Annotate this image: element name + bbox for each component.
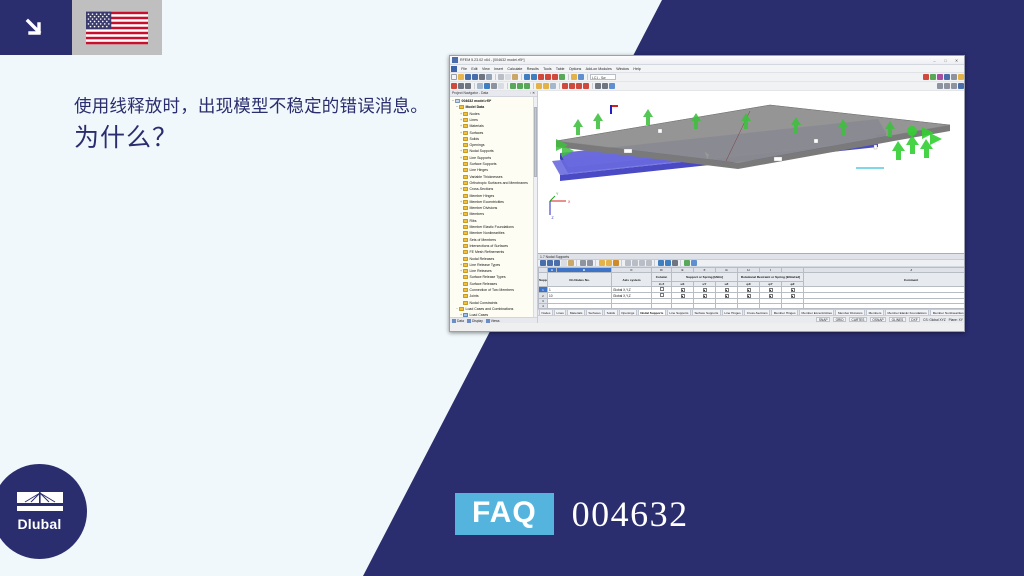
tree-node-label: Nodal Supports: [470, 149, 494, 153]
table-paste-icon[interactable]: [568, 260, 574, 266]
rotate-icon[interactable]: [559, 74, 565, 80]
faq-footer: FAQ 004632: [455, 493, 689, 535]
toolbar-separator: [576, 260, 577, 266]
tree-node-label: Connection of Two Members: [470, 288, 515, 292]
folder-icon: [463, 124, 468, 128]
menu-item-view[interactable]: View: [480, 67, 492, 71]
toolbar-separator: [521, 74, 522, 80]
node-icon[interactable]: [451, 83, 457, 89]
table-delete-icon[interactable]: [554, 260, 560, 266]
new-icon[interactable]: [451, 74, 457, 80]
checkbox-icon[interactable]: [681, 288, 685, 292]
tree-node-label: Variable Thicknesses: [470, 175, 503, 179]
table-print-icon[interactable]: [672, 260, 678, 266]
faq-badge: FAQ: [455, 493, 554, 535]
save-all-icon[interactable]: [472, 74, 478, 80]
folder-icon: [463, 137, 468, 141]
tree-node[interactable]: +Load Cases: [451, 312, 537, 317]
results-icon[interactable]: [937, 74, 943, 80]
table-prev-icon[interactable]: [632, 260, 638, 266]
table-settings-icon[interactable]: [684, 260, 690, 266]
toolbar-separator: [559, 83, 560, 89]
navigator-scrollbar[interactable]: [533, 97, 537, 317]
mesh-icon[interactable]: [944, 74, 950, 80]
menu-item-help[interactable]: Help: [631, 67, 643, 71]
header-axis-system: Axis system: [612, 273, 652, 287]
checkbox-icon[interactable]: [769, 294, 773, 298]
dimension-icon[interactable]: [595, 83, 601, 89]
header-on-nodes-no: On Nodes No.: [548, 273, 612, 287]
toolbar-separator: [621, 260, 622, 266]
table-edit-icon[interactable]: [547, 260, 553, 266]
application-menu-icon[interactable]: [451, 66, 457, 72]
folder-icon: [463, 200, 468, 204]
arc-icon[interactable]: [465, 83, 471, 89]
settings-gear-icon[interactable]: [958, 83, 964, 89]
tree-node-label: Model Data: [466, 105, 485, 109]
status-bar: SNAP GRID CARTES OSNAP GLINES DXF CS: Gl…: [538, 315, 965, 323]
menu-bar: File Edit View Insert Calculate Results …: [450, 65, 964, 73]
menu-item-file[interactable]: File: [459, 67, 469, 71]
checkbox-icon[interactable]: [681, 294, 685, 298]
tree-node-label: Joints: [470, 294, 479, 298]
copy-icon[interactable]: [505, 74, 511, 80]
tree-node-label: Load Cases and Combinations: [466, 307, 514, 311]
navigator-tab-views[interactable]: Views: [486, 319, 500, 323]
view-xz-icon[interactable]: [944, 83, 950, 89]
toolbar-separator: [568, 74, 569, 80]
folder-icon: [463, 194, 468, 198]
table-copy-icon[interactable]: [561, 260, 567, 266]
folder-icon: [463, 294, 468, 298]
svg-text:Y: Y: [556, 192, 559, 196]
toolbar-separator: [474, 83, 475, 89]
snap-icon[interactable]: [958, 74, 964, 80]
dlubal-logo: Dlubal: [0, 464, 87, 559]
coordinate-axes-icon: X Y Z: [550, 192, 571, 220]
headline-line-2: 为什么？: [74, 122, 434, 156]
display-icon: [467, 319, 471, 323]
toolbar-separator: [587, 74, 588, 80]
tree-node-label: Member Elastic Foundations: [470, 225, 514, 229]
folder-icon: [463, 212, 468, 216]
section-icon[interactable]: [609, 83, 615, 89]
arrow-down-right-block: [0, 0, 72, 55]
load-nodal-icon[interactable]: [562, 83, 568, 89]
table-first-icon[interactable]: [625, 260, 631, 266]
navigator-tree[interactable]: −004632 model.rf5*−Model Data+Nodes+Line…: [450, 97, 537, 317]
table-help-icon[interactable]: [691, 260, 697, 266]
line-support-icon[interactable]: [517, 83, 523, 89]
model-viewport[interactable]: X Y Z: [538, 91, 965, 253]
project-navigator: Project Navigator - Data ▫ ✕ −004632 mod…: [450, 91, 538, 323]
table-toolbar: [538, 260, 965, 267]
calculate-icon[interactable]: [923, 74, 929, 80]
hinge-icon[interactable]: [536, 83, 542, 89]
tree-node-label: Nodal Releases: [470, 257, 495, 261]
table-last-icon[interactable]: [646, 260, 652, 266]
origin-marker: [610, 105, 618, 114]
table-next-icon[interactable]: [639, 260, 645, 266]
table-undo-icon[interactable]: [658, 260, 664, 266]
checkbox-icon[interactable]: [769, 288, 773, 292]
grid-icon[interactable]: [951, 74, 957, 80]
tree-node-label: Nodal Constraints: [470, 301, 498, 305]
table-redo-icon[interactable]: [665, 260, 671, 266]
menu-item-addon-modules[interactable]: Add-on Modules: [583, 67, 614, 71]
folder-icon: [463, 143, 468, 147]
workspace: X Y Z 1.7 Nodal Supports ▫ ✕: [538, 91, 965, 323]
window-body: Project Navigator - Data ▫ ✕ −004632 mod…: [450, 91, 964, 323]
deformation-icon[interactable]: [930, 74, 936, 80]
minimize-button[interactable]: –: [931, 58, 938, 63]
tree-node-label: Surface Release Types: [470, 275, 506, 279]
toolbar-separator: [680, 260, 681, 266]
load-line-icon[interactable]: [569, 83, 575, 89]
folder-icon: [463, 112, 468, 116]
faq-number: 004632: [572, 493, 689, 535]
table-title: 1.7 Nodal Supports: [540, 255, 569, 259]
tree-node-label: Surfaces: [470, 131, 484, 135]
checkbox-icon[interactable]: [747, 294, 751, 298]
surface-icon[interactable]: [477, 83, 483, 89]
status-plane: Plane: XY: [949, 318, 963, 322]
folder-icon: [463, 149, 468, 153]
usa-flag-icon: [86, 7, 148, 49]
svg-text:Z: Z: [552, 216, 555, 220]
tree-node-label: Member Nonlinearities: [470, 231, 505, 235]
opening-icon[interactable]: [498, 83, 504, 89]
slide-canvas: 使用线释放时，出现模型不稳定的错误消息。 为什么？ Dlubal FAQ 004…: [0, 0, 1024, 576]
window-title-bar: RFEM 5.23.02 x64 - [004632 model.rf5*] –…: [450, 56, 964, 65]
dlubal-logo-text: Dlubal: [18, 516, 62, 532]
document-icon: [463, 313, 468, 317]
menu-item-tools[interactable]: Tools: [541, 67, 554, 71]
views-icon: [486, 319, 490, 323]
status-coordinate-system: CS: Global XYZ: [923, 318, 946, 322]
menu-item-insert[interactable]: Insert: [492, 67, 505, 71]
folder-icon: [459, 307, 464, 311]
checkbox-icon[interactable]: [660, 287, 664, 291]
tree-node-label: Member Hinges: [470, 194, 495, 198]
navigator-tab-display[interactable]: Display: [467, 319, 483, 323]
maximize-button[interactable]: □: [942, 58, 949, 63]
folder-icon: [463, 275, 468, 279]
folder-icon: [463, 206, 468, 210]
tree-node-label: Member Eccentricities: [470, 200, 504, 204]
cut-icon[interactable]: [498, 74, 504, 80]
toolbar-separator: [495, 74, 496, 80]
rfem-application-window: RFEM 5.23.02 x64 - [004632 model.rf5*] –…: [449, 55, 965, 332]
solid-icon[interactable]: [491, 83, 497, 89]
table-filter-icon[interactable]: [599, 260, 605, 266]
toolbar-separator: [592, 83, 593, 89]
checkbox-icon[interactable]: [791, 288, 795, 292]
menu-item-results[interactable]: Results: [525, 67, 541, 71]
undo-icon[interactable]: [524, 74, 530, 80]
menu-item-table[interactable]: Table: [554, 67, 567, 71]
toolbar-separator: [533, 83, 534, 89]
folder-icon: [463, 118, 468, 122]
folder-icon: [463, 301, 468, 305]
tree-node-label: Solids: [470, 137, 480, 141]
zoom-in-icon[interactable]: [538, 74, 544, 80]
menu-item-options[interactable]: Options: [567, 67, 584, 71]
checkbox-icon[interactable]: [791, 294, 795, 298]
checkbox-icon[interactable]: [703, 294, 707, 298]
header-column: Column: [652, 273, 672, 282]
data-icon: [452, 319, 456, 323]
window-controls: – □ ✕: [931, 58, 960, 63]
redo-icon[interactable]: [531, 74, 537, 80]
close-button[interactable]: ✕: [953, 58, 960, 63]
tree-node-label: Materials: [470, 124, 484, 128]
folder-icon: [463, 257, 468, 261]
save-icon[interactable]: [465, 74, 471, 80]
arrow-down-right-icon: [23, 15, 49, 41]
checkbox-icon[interactable]: [725, 288, 729, 292]
header-comment: Comment: [804, 273, 966, 287]
tree-node-label: Load Cases: [470, 313, 489, 317]
table-export-icon[interactable]: [587, 260, 593, 266]
release-icon[interactable]: [543, 83, 549, 89]
status-cartes[interactable]: CARTES: [849, 317, 867, 323]
folder-icon: [463, 231, 468, 235]
tree-node-label: Orthotropic Surfaces and Membranes: [470, 181, 528, 185]
zoom-out-icon[interactable]: [545, 74, 551, 80]
folder-icon: [463, 244, 468, 248]
folder-icon: [463, 181, 468, 185]
view-xy-icon[interactable]: [937, 83, 943, 89]
main-toolbar: LC1 - Sw: [450, 73, 964, 82]
preview-icon[interactable]: [486, 74, 492, 80]
folder-icon: [463, 162, 468, 166]
folder-icon: [463, 269, 468, 273]
member-icon[interactable]: [484, 83, 490, 89]
measure-icon[interactable]: [602, 83, 608, 89]
headline-line-1: 使用线释放时，出现模型不稳定的错误消息。: [74, 95, 434, 119]
render-icon[interactable]: [571, 74, 577, 80]
tree-node-label: Nodes: [470, 112, 480, 116]
secondary-toolbar: [450, 82, 964, 91]
tree-node-label: Cross-Sections: [470, 187, 494, 191]
folder-icon: [463, 175, 468, 179]
tree-node-label: Surface Releases: [470, 282, 498, 286]
print-icon[interactable]: [479, 74, 485, 80]
nodal-supports-table: A B C D E F G H I J: [538, 267, 965, 308]
load-case-combo[interactable]: LC1 - Sw: [590, 74, 616, 80]
table-group-header-row: Support No. On Nodes No. Axis system Col…: [539, 273, 966, 282]
header-support-or-spring: Support or Spring [kN/m]: [672, 273, 738, 282]
toolbar-separator: [507, 83, 508, 89]
tree-node-label: Line Supports: [470, 156, 492, 160]
folder-icon: [463, 250, 468, 254]
checkbox-icon[interactable]: [747, 288, 751, 292]
load-free-icon[interactable]: [583, 83, 589, 89]
folder-icon: [459, 105, 464, 109]
menu-item-window[interactable]: Window: [614, 67, 631, 71]
table-new-icon[interactable]: [540, 260, 546, 266]
bridge-icon: [17, 492, 63, 514]
tree-node-label: Ribs: [470, 219, 477, 223]
folder-icon: [463, 131, 468, 135]
folder-icon: [463, 288, 468, 292]
navigator-tabs: Data Display Views: [450, 317, 537, 323]
status-glines[interactable]: GLINES: [889, 317, 906, 323]
eccentricity-icon[interactable]: [550, 83, 556, 89]
tree-node-label: Line Releases: [470, 269, 492, 273]
wireframe-icon[interactable]: [578, 74, 584, 80]
header-rotational-restraint: Rotational Restraint or Spring [kNm/rad]: [738, 273, 804, 282]
tree-node-label: Intersections of Surfaces: [470, 244, 509, 248]
open-icon[interactable]: [458, 74, 464, 80]
navigator-title: Project Navigator - Data: [452, 91, 488, 95]
folder-icon: [455, 99, 460, 103]
folder-icon: [463, 225, 468, 229]
slide-headline: 使用线释放时，出现模型不稳定的错误消息。 为什么？: [74, 95, 434, 155]
status-snap[interactable]: SNAP: [816, 317, 830, 323]
status-dxf[interactable]: DXF: [909, 317, 920, 323]
folder-icon: [463, 168, 468, 172]
view-iso-icon[interactable]: [951, 83, 957, 89]
table-sort-icon[interactable]: [606, 260, 612, 266]
navigator-scrollbar-thumb[interactable]: [534, 107, 537, 177]
nodal-support-icon[interactable]: [510, 83, 516, 89]
line-icon[interactable]: [458, 83, 464, 89]
zoom-window-icon[interactable]: [552, 74, 558, 80]
folder-icon: [463, 263, 468, 267]
tree-node-label: Line Hinges: [470, 168, 488, 172]
checkbox-icon[interactable]: [703, 288, 707, 292]
toolbar-separator: [654, 260, 655, 266]
folder-icon: [463, 238, 468, 242]
paste-icon[interactable]: [512, 74, 518, 80]
menu-item-edit[interactable]: Edit: [469, 67, 480, 71]
tree-node-label: Openings: [470, 143, 485, 147]
tree-node-label: Sets of Members: [470, 238, 496, 242]
table-selection-icon[interactable]: [613, 260, 619, 266]
tree-node-label: FE Mesh Refinements: [470, 250, 505, 254]
navigator-tab-data[interactable]: Data: [452, 319, 464, 323]
status-grid[interactable]: GRID: [833, 317, 846, 323]
status-osnap[interactable]: OSNAP: [870, 317, 886, 323]
checkbox-icon[interactable]: [660, 293, 664, 297]
tree-node-label: 004632 model.rf5*: [462, 99, 492, 103]
tree-node-label: Member Divisions: [470, 206, 498, 210]
toolbar-separator: [595, 260, 596, 266]
table-body: 11Global X,Y,Z210Global X,Y,Z345: [539, 287, 966, 309]
tree-node-label: Surface Supports: [470, 162, 497, 166]
tree-node-label: Lines: [470, 118, 478, 122]
window-title-text: RFEM 5.23.02 x64 - [004632 model.rf5*]: [460, 58, 931, 62]
flag-block: [72, 0, 162, 55]
folder-icon: [463, 156, 468, 160]
load-surface-icon[interactable]: [576, 83, 582, 89]
folder-icon: [463, 219, 468, 223]
table-panel: 1.7 Nodal Supports ▫ ✕: [538, 253, 965, 315]
folder-icon: [463, 187, 468, 191]
navigator-close-icon[interactable]: ▫ ✕: [530, 91, 535, 95]
header-support-no: Support No.: [539, 273, 548, 287]
menu-item-calculate[interactable]: Calculate: [505, 67, 524, 71]
tree-node-label: Members: [470, 212, 485, 216]
model-3d-view: X Y Z: [538, 91, 965, 253]
surface-support-icon[interactable]: [524, 83, 530, 89]
svg-text:X: X: [568, 200, 571, 204]
table-import-icon[interactable]: [580, 260, 586, 266]
tree-node-label: Line Release Types: [470, 263, 501, 267]
table-grid[interactable]: A B C D E F G H I J: [538, 267, 965, 308]
folder-icon: [463, 282, 468, 286]
checkbox-icon[interactable]: [725, 294, 729, 298]
rfem-app-icon: [452, 57, 458, 63]
